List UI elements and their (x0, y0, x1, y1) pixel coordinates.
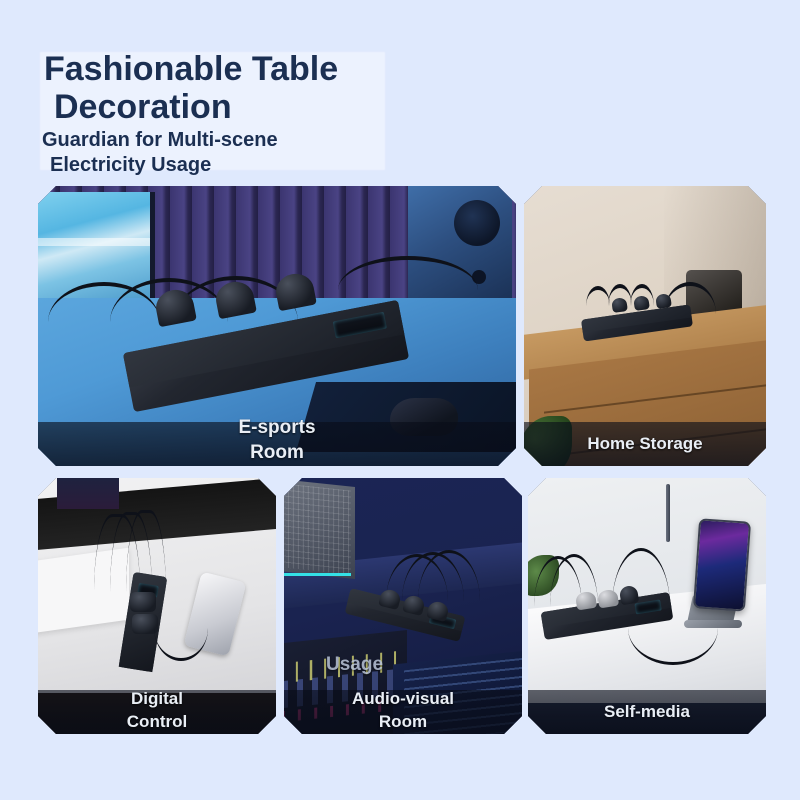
caption-line-1: Digital (131, 689, 183, 708)
caption-line-1: E-sports (238, 417, 315, 438)
caption-line-2: Room (38, 440, 516, 465)
speaker-cone (454, 200, 500, 246)
screen-grid (284, 484, 351, 575)
caption-line-1: Audio-visual (352, 689, 454, 708)
panel-home-storage[interactable]: Home Storage (524, 186, 766, 466)
panel-caption-esports-room: E-sports Room (38, 415, 516, 466)
panel-caption-self-media: Self-media (528, 700, 766, 724)
studio-monitor-screen (284, 479, 355, 579)
subheadline-line-1: Guardian for Multi-scene (42, 128, 500, 153)
headline-line-1: Fashionable Table (44, 50, 500, 88)
phone-stand-base (684, 620, 742, 628)
scene-home-storage (524, 186, 766, 466)
scene-self-media (528, 478, 766, 734)
panel-caption-digital-control: Digital Control (38, 687, 276, 734)
monitor-accent-line (284, 573, 351, 576)
plug-head (130, 592, 156, 612)
monitor-base (57, 478, 119, 509)
panel-caption-home-storage: Home Storage (524, 432, 766, 456)
headline-line-2: Decoration (54, 88, 500, 126)
caption-line-2: Control (38, 710, 276, 733)
smartphone (693, 518, 751, 611)
title-block: Fashionable Table Decoration Guardian fo… (40, 50, 500, 178)
panel-esports-room[interactable]: E-sports Room (38, 186, 516, 466)
caption-line-1: Home Storage (587, 434, 702, 453)
subheadline-line-2: Electricity Usage (50, 153, 500, 178)
panel-audio-visual-room[interactable]: Usage Audio-visual Room (284, 478, 522, 734)
header: Fashionable Table Decoration Guardian fo… (0, 0, 800, 180)
caption-line-2: Room (284, 710, 522, 733)
drawer-divider (544, 382, 766, 413)
stray-label-usage: Usage (326, 654, 383, 676)
panel-self-media[interactable]: Self-media (528, 478, 766, 734)
caption-line-1: Self-media (604, 702, 690, 721)
panel-digital-control[interactable]: Digital Control (38, 478, 276, 734)
panel-caption-audio-visual-room: Audio-visual Room (284, 687, 522, 734)
microphone-arm (666, 484, 670, 542)
